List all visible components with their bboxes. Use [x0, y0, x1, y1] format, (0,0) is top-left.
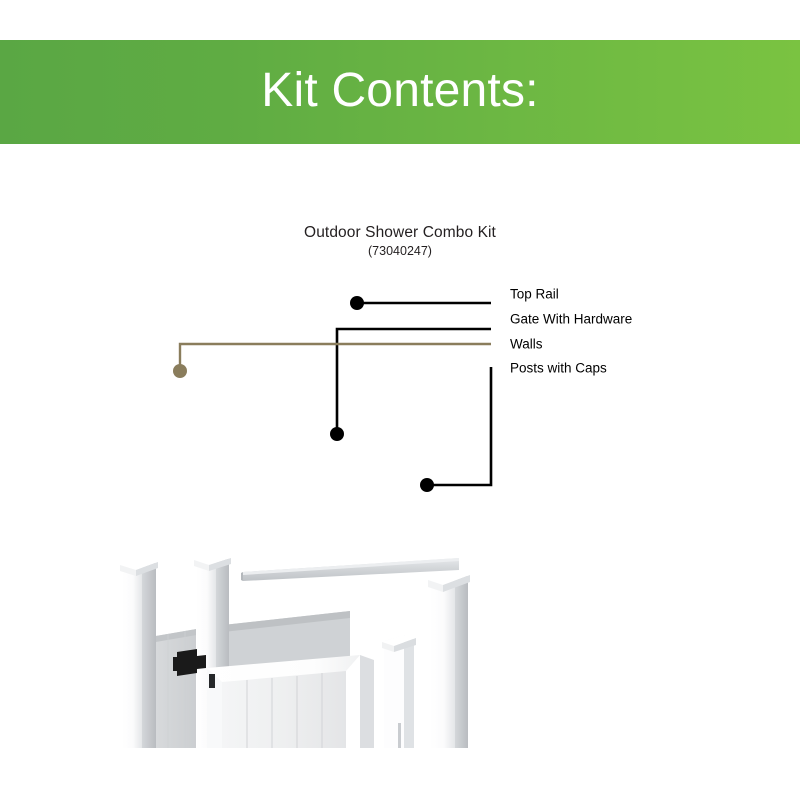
kit-contents-page: Kit Contents: Outdoor Shower Combo Kit (…: [0, 0, 800, 800]
callout-dot-gate-with-hardware: [330, 427, 344, 441]
product-sku: (73040247): [0, 244, 800, 258]
callout-line-posts-with-caps: [427, 367, 491, 485]
gate-panel: [207, 655, 374, 748]
top-rail: [241, 558, 459, 581]
product-illustration: [120, 554, 470, 748]
callout-top-rail: Top Rail: [350, 287, 559, 310]
illustration-stage: Top Rail Gate With Hardware Walls Posts …: [0, 268, 800, 748]
callout-posts-with-caps: Posts with Caps: [420, 361, 607, 492]
page-title: Kit Contents:: [261, 67, 538, 115]
callout-gate-with-hardware: Gate With Hardware: [330, 312, 632, 441]
product-name: Outdoor Shower Combo Kit: [0, 224, 800, 242]
post-rear-left: [120, 558, 158, 748]
callout-dot-top-rail: [350, 296, 364, 310]
gate-latch-post: [382, 635, 416, 748]
product-title-block: Outdoor Shower Combo Kit (73040247): [0, 224, 800, 258]
wall-bracket: [209, 674, 215, 688]
callout-dot-walls: [173, 364, 187, 378]
callout-walls: Walls: [173, 337, 543, 378]
callout-dot-posts-with-caps: [420, 478, 434, 492]
callout-label-walls: Walls: [510, 337, 543, 352]
callout-label-top-rail: Top Rail: [510, 287, 559, 302]
callout-label-posts-with-caps: Posts with Caps: [510, 361, 607, 376]
callout-line-walls: [180, 344, 491, 371]
header-banner: Kit Contents:: [0, 40, 800, 144]
callout-label-gate-with-hardware: Gate With Hardware: [510, 312, 632, 327]
post-right: [428, 571, 470, 748]
